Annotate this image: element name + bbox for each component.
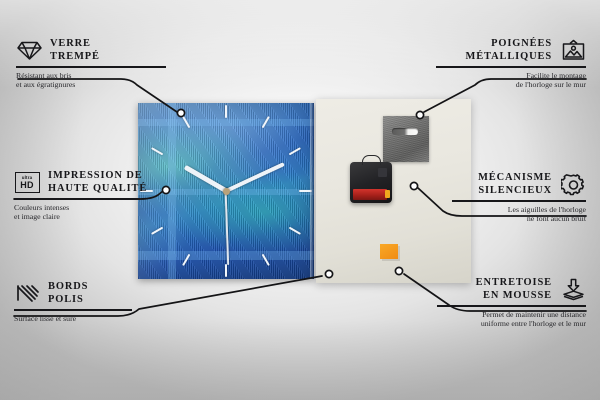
quartz-mechanism-box	[350, 162, 392, 203]
feature-header: POIGNÉES MÉTALLIQUES	[436, 38, 586, 63]
feature-bords-polis[interactable]: BORDS POLIS Surface lisse et sûre	[14, 281, 132, 323]
feature-subtitle-line: Couleurs intenses	[14, 203, 140, 213]
hour-marker	[140, 190, 226, 192]
feature-header: BORDS POLIS	[14, 281, 132, 306]
foam-spacer-icon	[560, 278, 586, 302]
feature-header: VERRE TREMPÉ	[16, 38, 166, 63]
foam-spacer	[380, 244, 398, 259]
diamond-icon	[16, 39, 42, 63]
feature-entretoise-en-mousse[interactable]: ENTRETOISE EN MOUSSE Permet de maintenir…	[437, 277, 586, 329]
hour-marker	[225, 105, 227, 191]
feature-subtitle-line: et aux égratignures	[16, 80, 166, 90]
feature-subtitle-line: Surface lisse et sûre	[14, 314, 132, 324]
feature-impression-haute-qualite[interactable]: ultra HD IMPRESSION DE HAUTE QUALITÉ Cou…	[14, 170, 140, 222]
feature-subtitle-line: de l'horloge sur le mur	[436, 80, 586, 90]
feature-header: ultra HD IMPRESSION DE HAUTE QUALITÉ	[14, 170, 140, 195]
clock-back-panel	[316, 99, 471, 283]
divider	[452, 200, 586, 201]
product-photo	[137, 99, 471, 283]
feature-mecanisme-silencieux[interactable]: MÉCANISME SILENCIEUX Les aiguilles de l'…	[452, 172, 586, 224]
divider	[437, 305, 586, 306]
clock-center-pin	[223, 188, 230, 195]
feature-subtitle-line: Facilite le montage	[436, 71, 586, 81]
mechanism-hook	[362, 155, 381, 165]
feature-subtitle-line: Résistant aux bris	[16, 71, 166, 81]
feature-title: BORDS POLIS	[48, 281, 88, 306]
feature-title: POIGNÉES MÉTALLIQUES	[466, 38, 553, 63]
feature-title: ENTRETOISE EN MOUSSE	[476, 277, 552, 302]
mechanism-detail	[378, 168, 387, 177]
feature-header: MÉCANISME SILENCIEUX	[452, 172, 586, 197]
feature-subtitle-line: Les aiguilles de l'horloge	[452, 205, 586, 215]
polished-edges-icon	[14, 282, 40, 306]
glass-edge	[310, 103, 314, 279]
divider	[14, 309, 132, 310]
infographic-canvas: VERRE TREMPÉ Résistant aux bris et aux é…	[0, 0, 600, 400]
feature-subtitle-line: Permet de maintenir une distance	[437, 310, 586, 320]
feature-subtitle-line: et image claire	[14, 212, 140, 222]
hour-marker	[226, 190, 312, 192]
feature-title: VERRE TREMPÉ	[50, 38, 100, 63]
clock-face	[138, 103, 314, 279]
divider	[16, 66, 166, 67]
battery	[353, 189, 387, 200]
hanging-frame-icon	[560, 39, 586, 63]
gear-icon	[560, 173, 586, 197]
feature-title: MÉCANISME SILENCIEUX	[478, 172, 552, 197]
hanger-slot	[392, 128, 418, 135]
divider	[14, 198, 140, 199]
feature-subtitle-line: ne font aucun bruit	[452, 214, 586, 224]
ultra-hd-icon: ultra HD	[14, 171, 40, 195]
metal-hanger-plate	[383, 116, 429, 162]
feature-poignees-metalliques[interactable]: POIGNÉES MÉTALLIQUES Facilite le montage…	[436, 38, 586, 90]
divider	[436, 66, 586, 67]
feature-subtitle-line: uniforme entre l'horloge et le mur	[437, 319, 586, 329]
feature-title: IMPRESSION DE HAUTE QUALITÉ	[48, 170, 147, 195]
feature-verre-trempe[interactable]: VERRE TREMPÉ Résistant aux bris et aux é…	[16, 38, 166, 90]
feature-header: ENTRETOISE EN MOUSSE	[437, 277, 586, 302]
